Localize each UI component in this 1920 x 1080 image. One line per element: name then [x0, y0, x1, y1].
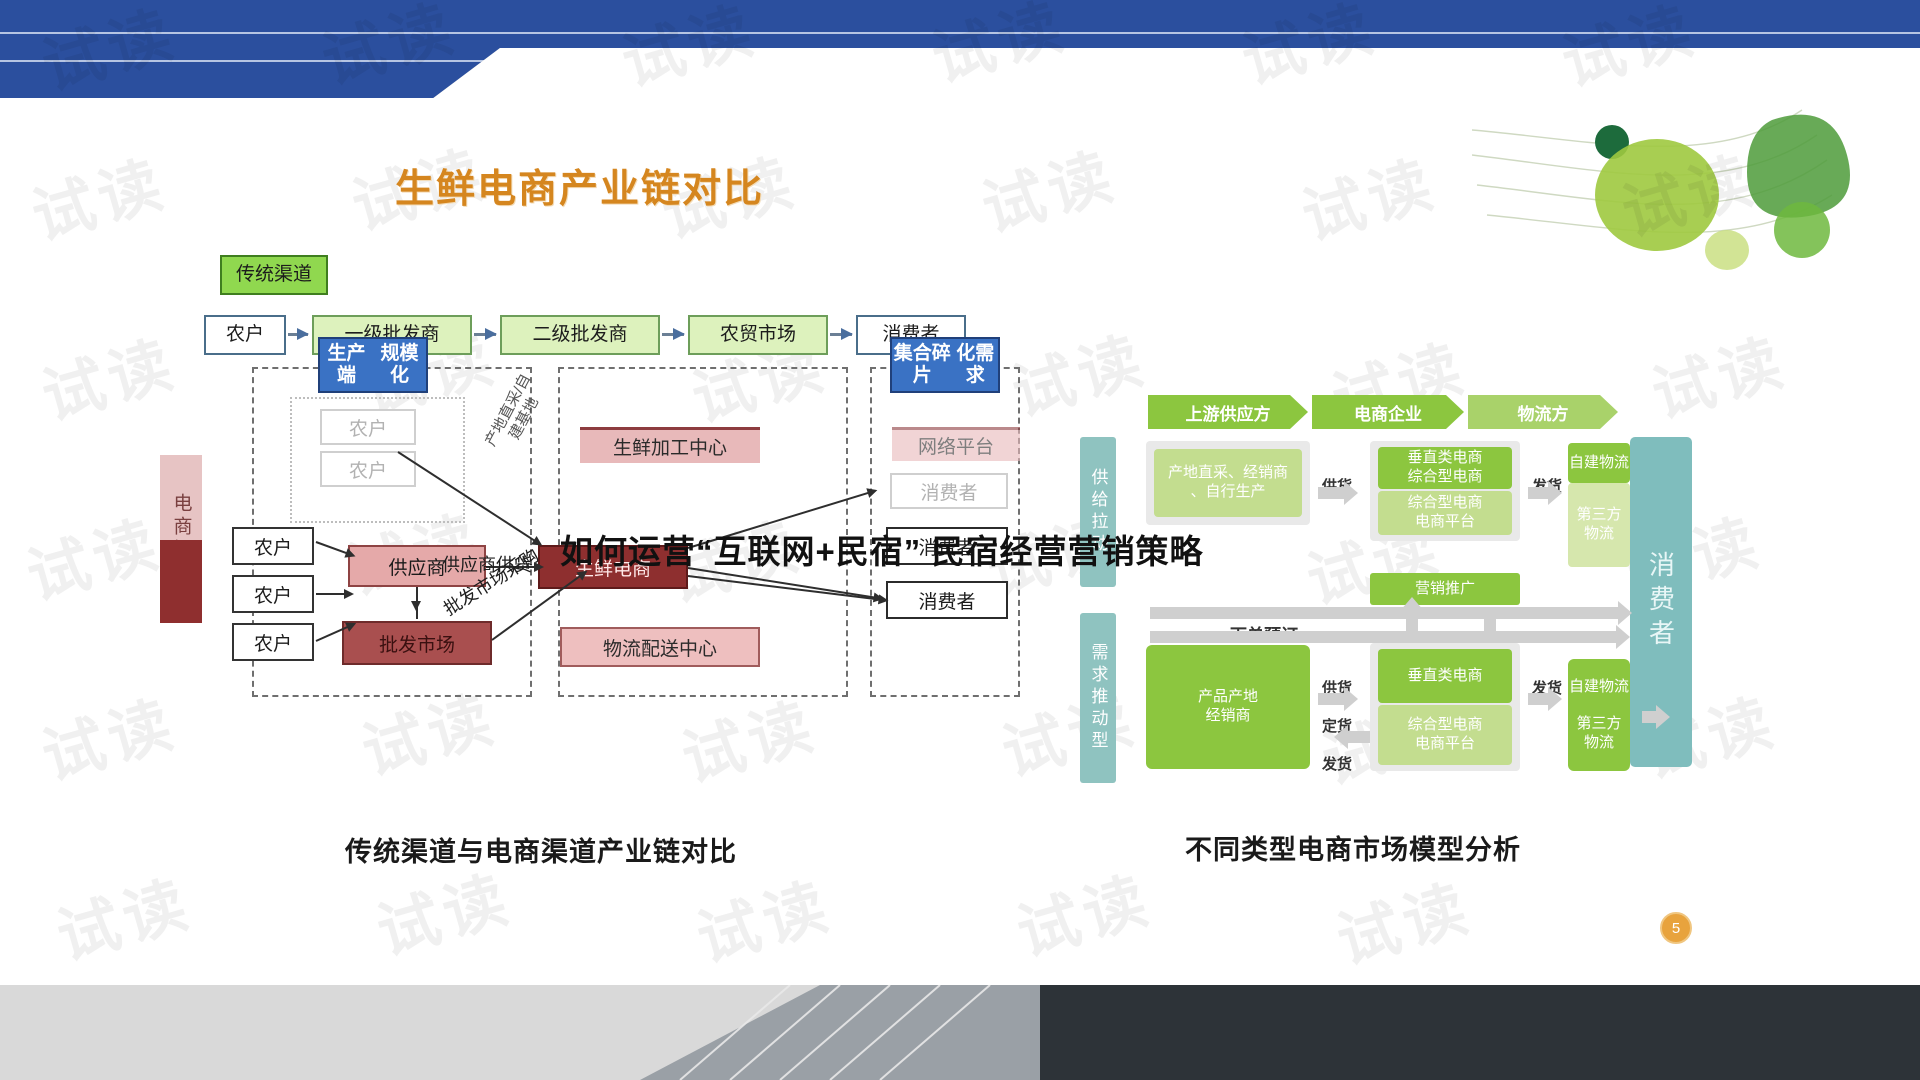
- arrow-preorder: [1150, 607, 1620, 619]
- logistics-center: 物流配送中心: [560, 627, 760, 667]
- logistics-upper-third-line2: 物流: [1584, 525, 1614, 542]
- connector-arrowhead: [415, 608, 417, 609]
- consumer-box-ghost: 消费者: [890, 473, 1008, 509]
- ecom-lower-line3: 电商平台: [1415, 735, 1475, 752]
- photo-foreground: [1040, 985, 1920, 1080]
- banner-rule-top: [0, 32, 1920, 34]
- header-demand-line1: 集合碎片: [892, 343, 953, 387]
- chevron-logistics: 物流方: [1468, 395, 1618, 429]
- network-platform: 网络平台: [892, 427, 1020, 461]
- flow-arrow: [830, 333, 852, 336]
- logistics-lower-line3: 物流: [1584, 734, 1614, 751]
- farmer-box: 农户: [232, 527, 314, 565]
- flow-arrow: [474, 333, 496, 336]
- leaf-decoration: [1472, 100, 1892, 400]
- supply-upper-box: 产地直采、经销商 、自行生产: [1154, 449, 1302, 517]
- marketing-promotion-box: 营销推广: [1370, 573, 1520, 605]
- header-production-line1: 生产端: [320, 343, 373, 387]
- ecom-lower-line2: 综合型电商: [1407, 716, 1482, 733]
- logistics-lower-line2: 第三方: [1576, 715, 1621, 732]
- arrow-preorder-lower: [1150, 631, 1618, 643]
- trad-node-wholesaler2: 二级批发商: [500, 315, 660, 355]
- flow-arrow: [288, 333, 308, 336]
- wholesale-market-box: 批发市场: [342, 621, 492, 665]
- ecom-upper-vertical: 垂直类电商 综合型电商: [1378, 447, 1512, 489]
- ecom-lower-platform: 综合型电商 电商平台: [1378, 705, 1512, 765]
- logistics-upper-self-label: 自建物流: [1569, 454, 1629, 473]
- arrow-ship-1: [1528, 487, 1550, 499]
- consumer-box: 消费者: [886, 581, 1008, 619]
- trad-node-market: 农贸市场: [688, 315, 828, 355]
- arrow-logistics-to-consumer: [1642, 711, 1658, 723]
- ecom-upper-line1: 垂直类电商: [1407, 449, 1482, 466]
- header-aggregate-demand: 集合碎片 化需求: [890, 337, 1000, 393]
- label-ship-3: 发货: [1322, 753, 1352, 774]
- arrow-ship-2: [1528, 693, 1550, 705]
- farmer-box: 农户: [232, 623, 314, 661]
- photo-lines: [660, 985, 1080, 1080]
- ecom-upper-line3a: 综合型电商: [1407, 494, 1482, 511]
- farmer-box: 农户: [232, 575, 314, 613]
- ecom-upper-platform: 综合型电商 电商平台: [1378, 491, 1512, 535]
- chevron-ecommerce-firm: 电商企业: [1312, 395, 1464, 429]
- page-number-badge: 5: [1660, 912, 1692, 944]
- ecom-upper-line3b: 电商平台: [1415, 513, 1475, 530]
- trad-node-farmer: 农户: [204, 315, 286, 355]
- arrow-supply-2: [1318, 693, 1346, 705]
- logistics-upper-self: 自建物流: [1568, 443, 1630, 483]
- supply-upper-line1: 产地直采、经销商: [1168, 464, 1288, 481]
- supply-lower-box: 产品产地 经销商: [1146, 645, 1310, 769]
- logistics-upper-third-line1: 第三方: [1576, 506, 1621, 523]
- fresh-processing-center: 生鲜加工中心: [580, 427, 760, 463]
- logistics-lower-line1: 自建物流: [1569, 678, 1629, 695]
- ecom-upper-line2: 综合型电商: [1407, 468, 1482, 485]
- vertical-bar-demand-driven: 需求推动型: [1080, 613, 1116, 783]
- ghost-farmer: 农户: [320, 409, 416, 445]
- supply-lower-line2: 经销商: [1205, 707, 1250, 724]
- ecom-lower-line1: 垂直类电商: [1407, 667, 1482, 686]
- supply-upper-line2: 、自行生产: [1190, 483, 1265, 500]
- flow-arrow: [662, 333, 684, 336]
- page-title: 生鲜电商产业链对比: [395, 158, 764, 214]
- ghost-farmer: 农户: [320, 451, 416, 487]
- left-diagram-caption: 传统渠道与电商渠道产业链对比: [345, 830, 737, 869]
- right-diagram-caption: 不同类型电商市场模型分析: [1185, 828, 1521, 867]
- header-production-scale: 生产端 规模化: [318, 337, 428, 393]
- header-production-line2: 规模化: [373, 343, 426, 387]
- chevron-upstream-supply: 上游供应方: [1148, 395, 1308, 429]
- supply-lower-line1: 产品产地: [1198, 688, 1258, 705]
- slide-canvas: 试读 试读 试读 试读 试读 试读 试读 试读 试读 试读 试读 试读 试读 试…: [0, 0, 1920, 1080]
- connector: [316, 593, 352, 595]
- ecommerce-channel-accent: [160, 540, 202, 623]
- logistics-lower-box: 自建物流 第三方 物流: [1568, 659, 1630, 771]
- ecom-lower-vertical: 垂直类电商: [1378, 649, 1512, 703]
- right-diagram: 上游供应方 电商企业 物流方 供给拉动 需求推动型 产地直采、经销商 、自行生产…: [1070, 395, 1710, 815]
- overlay-headline: 如何运营“互联网+民宿” 民宿经营营销策略: [560, 525, 1203, 573]
- bottom-photo-strip: [0, 985, 1920, 1080]
- traditional-channel-label: 传统渠道: [220, 255, 328, 295]
- header-demand-line2: 化需求: [953, 343, 998, 387]
- arrow-supply-1: [1318, 487, 1346, 499]
- logistics-upper-third: 第三方 物流: [1568, 483, 1630, 567]
